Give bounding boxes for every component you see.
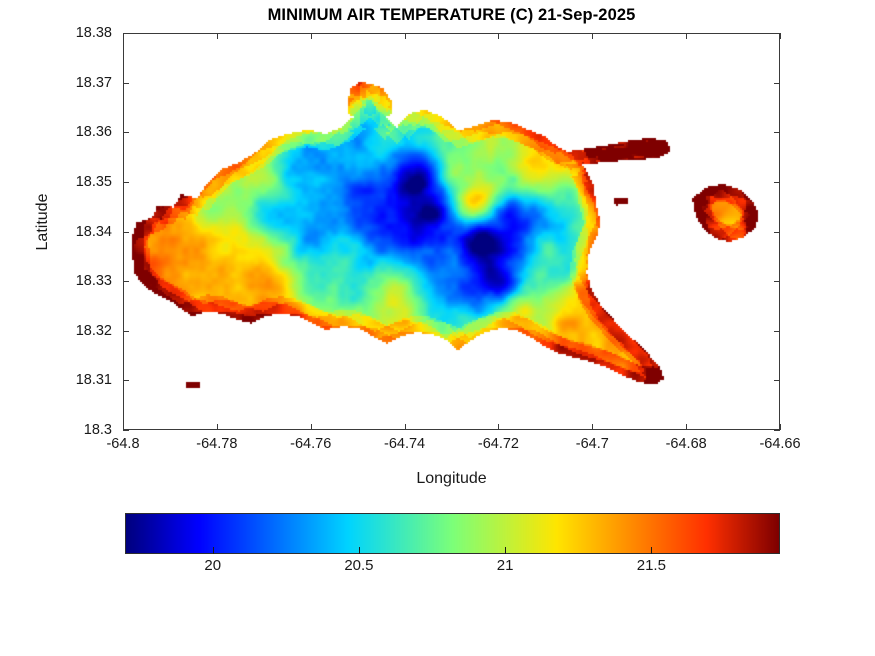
map-axes <box>123 33 780 430</box>
x-tick-label: -64.76 <box>290 436 331 452</box>
colorbar <box>125 513 780 554</box>
y-tick-label: 18.3 <box>0 422 112 438</box>
y-tick <box>774 33 780 34</box>
x-tick-label: -64.78 <box>196 436 237 452</box>
x-tick-label: -64.68 <box>666 436 707 452</box>
y-tick <box>123 232 129 233</box>
y-tick <box>123 132 129 133</box>
figure-canvas: MINIMUM AIR TEMPERATURE (C) 21-Sep-2025 … <box>0 0 875 656</box>
y-tick <box>774 331 780 332</box>
y-tick-label: 18.33 <box>0 273 112 289</box>
x-tick <box>498 424 499 430</box>
y-tick <box>774 182 780 183</box>
x-tick <box>405 33 406 39</box>
y-tick-label: 18.32 <box>0 323 112 339</box>
x-tick <box>592 424 593 430</box>
y-tick-label: 18.34 <box>0 224 112 240</box>
y-tick <box>774 430 780 431</box>
colorbar-tick-label: 20.5 <box>344 557 373 574</box>
chart-title: MINIMUM AIR TEMPERATURE (C) 21-Sep-2025 <box>123 6 780 25</box>
y-tick <box>123 33 129 34</box>
x-tick <box>686 424 687 430</box>
y-axis-label: Latitude <box>34 162 52 282</box>
y-tick <box>774 281 780 282</box>
temperature-heatmap <box>124 34 780 430</box>
x-axis-label: Longitude <box>123 470 780 488</box>
colorbar-tick <box>213 547 214 554</box>
x-tick <box>217 424 218 430</box>
x-tick-label: -64.66 <box>759 436 800 452</box>
y-tick-label: 18.36 <box>0 124 112 140</box>
x-tick <box>498 33 499 39</box>
colorbar-tick-label: 21 <box>497 557 514 574</box>
y-tick <box>774 380 780 381</box>
y-tick-label: 18.37 <box>0 75 112 91</box>
x-tick <box>780 424 781 430</box>
x-tick <box>592 33 593 39</box>
colorbar-tick <box>651 547 652 554</box>
colorbar-tick <box>359 547 360 554</box>
x-tick <box>311 424 312 430</box>
y-tick <box>123 281 129 282</box>
y-tick <box>123 430 129 431</box>
y-tick <box>123 83 129 84</box>
x-tick <box>217 33 218 39</box>
colorbar-tick-label: 20 <box>204 557 221 574</box>
y-tick-label: 18.35 <box>0 174 112 190</box>
x-tick-label: -64.74 <box>384 436 425 452</box>
x-tick <box>780 33 781 39</box>
y-tick-label: 18.31 <box>0 372 112 388</box>
colorbar-gradient <box>125 513 780 554</box>
x-tick <box>311 33 312 39</box>
y-tick <box>774 232 780 233</box>
y-tick <box>123 380 129 381</box>
y-tick <box>123 182 129 183</box>
colorbar-tick-label: 21.5 <box>637 557 666 574</box>
colorbar-tick <box>505 547 506 554</box>
y-tick <box>774 83 780 84</box>
x-tick <box>405 424 406 430</box>
y-tick <box>123 331 129 332</box>
y-tick <box>774 132 780 133</box>
x-tick-label: -64.72 <box>478 436 519 452</box>
x-tick-label: -64.7 <box>576 436 609 452</box>
x-tick-label: -64.8 <box>106 436 139 452</box>
x-tick <box>686 33 687 39</box>
y-tick-label: 18.38 <box>0 25 112 41</box>
